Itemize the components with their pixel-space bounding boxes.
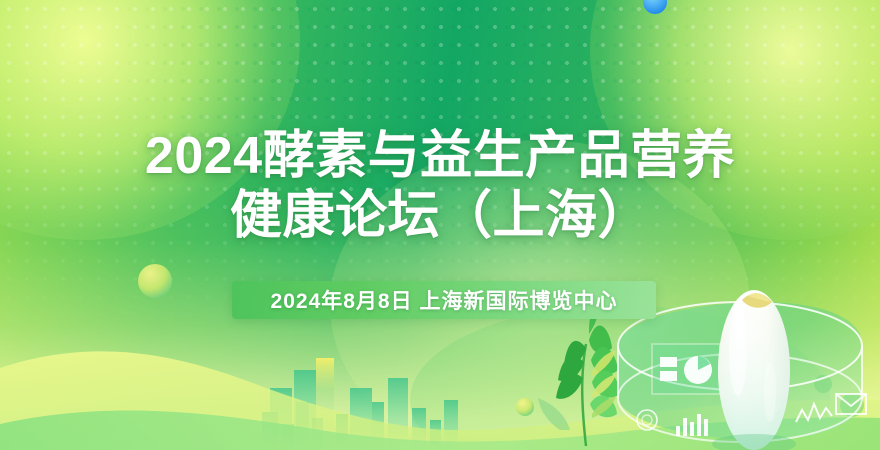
- subtitle-text: 2024年8月8日 上海新国际博览中心: [271, 285, 618, 315]
- title-line-1: 2024酵素与益生产品营养: [145, 127, 735, 185]
- text-content: 2024酵素与益生产品营养 健康论坛（上海） 2024年8月8日 上海新国际博览…: [0, 0, 880, 450]
- banner-title: 2024酵素与益生产品营养 健康论坛（上海）: [0, 126, 880, 246]
- subtitle-pill: 2024年8月8日 上海新国际博览中心: [232, 281, 656, 319]
- event-banner: 2024酵素与益生产品营养 健康论坛（上海） 2024年8月8日 上海新国际博览…: [0, 0, 880, 450]
- title-line-2: 健康论坛（上海）: [0, 186, 880, 246]
